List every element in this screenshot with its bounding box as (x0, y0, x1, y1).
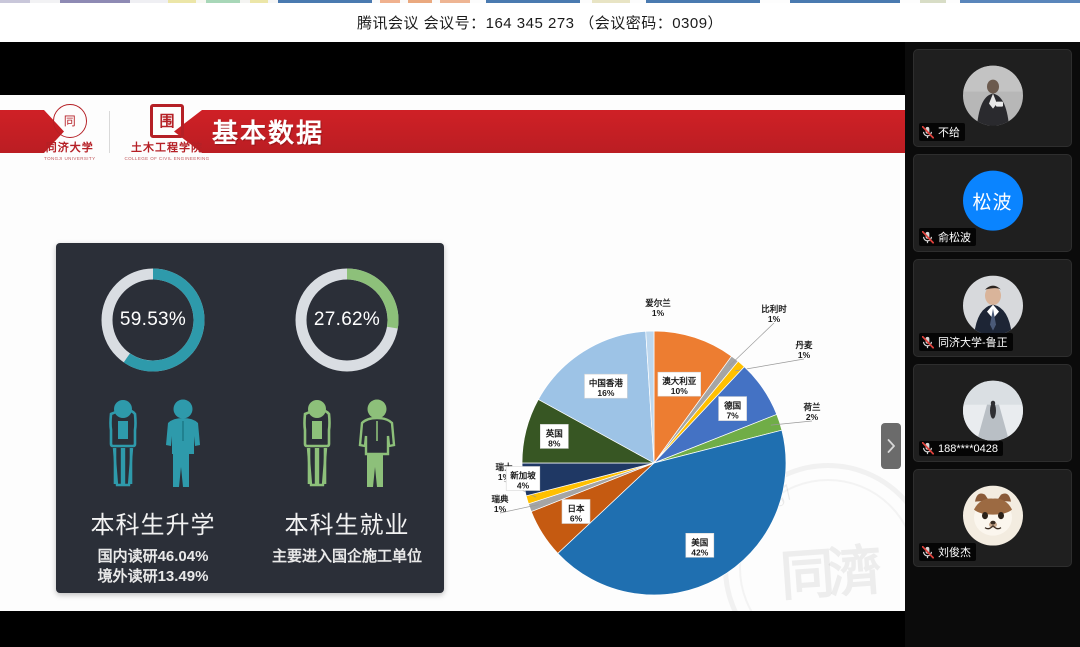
avatar-photo (963, 486, 1023, 546)
mic-muted-icon (922, 231, 934, 244)
pie-slice-label: 美国42% (686, 533, 714, 557)
pie-label-value: 1% (494, 504, 507, 514)
participants-panel[interactable]: 不给松波 俞松波 同济大学-鲁正 (905, 42, 1080, 647)
donut-chart-employment: 27.62% (288, 261, 406, 379)
pie-slice-label: 英国8% (540, 424, 568, 448)
logo-divider (109, 111, 110, 153)
participant-tile[interactable]: 松波 俞松波 (913, 154, 1072, 252)
destination-pie-chart: 澳大利亚10%比利时1%丹麦1%德国7%荷兰2%美国42%日本6%瑞典1%瑞士1… (482, 291, 832, 611)
female-figure-icon (294, 397, 340, 489)
meeting-window: 腾讯会议 会议号：164 345 273 （会议密码：0309） 1907 同濟… (0, 0, 1080, 647)
people-icons-employment (294, 393, 400, 489)
avatar (963, 381, 1023, 441)
pie-label-name: 中国香港 (589, 378, 624, 388)
pie-slice-label: 澳大利亚10% (658, 372, 701, 396)
pie-slice-label: 德国7% (719, 397, 747, 421)
college-logo-en: COLLEGE OF CIVIL ENGINEERING (124, 156, 209, 161)
pie-slice-label: 瑞典1% (491, 494, 509, 514)
participant-name-badge: 188****0428 (919, 441, 1003, 456)
avatar: 松波 (963, 171, 1023, 231)
avatar (963, 276, 1023, 336)
tongji-seal-icon: 同 (53, 104, 87, 138)
shared-screen-stage: 1907 同濟 TONGJI UNIVERSITY 同 同济大学 TONGJI … (0, 42, 905, 647)
college-emblem-icon: 围 (150, 104, 184, 138)
meeting-title-text: 腾讯会议 会议号：164 345 273 （会议密码：0309） (357, 12, 723, 33)
pie-label-value: 16% (597, 388, 614, 398)
participant-name-badge: 同济大学-鲁正 (919, 333, 1013, 351)
donut-chart-postgrad: 59.53% (94, 261, 212, 379)
pie-label-value: 10% (671, 386, 688, 396)
pie-label-name: 德国 (724, 401, 741, 411)
meeting-title-bar: 腾讯会议 会议号：164 345 273 （会议密码：0309） (0, 3, 1080, 42)
pie-label-name: 新加坡 (510, 471, 536, 481)
pie-label-value: 1% (652, 308, 665, 318)
participant-name: 同济大学-鲁正 (938, 334, 1008, 350)
civil-engineering-college-logo: 围 土木工程学院 COLLEGE OF CIVIL ENGINEERING (124, 104, 209, 161)
pie-label-name: 澳大利亚 (662, 376, 697, 386)
people-icons-postgrad (100, 393, 206, 489)
pie-slice-label: 爱尔兰1% (645, 298, 671, 318)
pie-label-name: 比利时 (761, 304, 787, 314)
avatar-photo (963, 66, 1023, 126)
pie-label-name: 美国 (691, 537, 708, 547)
male-figure-icon (160, 397, 206, 489)
pie-label-value: 6% (570, 514, 583, 524)
infographic-sub-line2: 境外读研13.49% (98, 567, 209, 587)
infographic-heading-employment: 本科生就业 (285, 505, 410, 540)
pie-label-value: 1% (798, 350, 811, 360)
pie-label-value: 2% (806, 412, 819, 422)
tongji-logo-cn: 同济大学 (46, 139, 94, 155)
participant-name: 188****0428 (938, 443, 998, 455)
pie-slice-label: 日本6% (562, 500, 590, 524)
tongji-logo-en: TONGJI UNIVERSITY (44, 156, 95, 161)
donut-label-postgrad: 59.53% (94, 261, 212, 379)
pie-label-name: 英国 (545, 428, 563, 438)
female-figure-icon (100, 397, 146, 489)
pie-label-name: 瑞典 (491, 494, 509, 504)
collapse-panel-button[interactable] (881, 423, 901, 469)
infographic-sub-line1: 主要进入国企施工单位 (272, 547, 422, 567)
avatar (963, 486, 1023, 546)
mic-muted-icon (922, 442, 934, 455)
pie-label-name: 荷兰 (802, 402, 821, 412)
infographic-heading-postgrad: 本科生升学 (91, 505, 216, 540)
institution-logos: 同 同济大学 TONGJI UNIVERSITY 围 土木工程学院 COLLEG… (44, 101, 210, 163)
pie-label-value: 4% (517, 481, 530, 491)
participant-name: 刘俊杰 (938, 544, 971, 560)
avatar-photo (963, 381, 1023, 441)
presentation-slide: 1907 同濟 TONGJI UNIVERSITY 同 同济大学 TONGJI … (0, 95, 905, 611)
pie-slice-label: 新加坡4% (506, 467, 540, 491)
pie-label-value: 7% (726, 411, 739, 421)
participant-tile[interactable]: 刘俊杰 (913, 469, 1072, 567)
slide-title: 基本数据 (212, 110, 324, 153)
pie-label-name: 日本 (567, 504, 585, 514)
avatar-photo (963, 276, 1023, 336)
participant-name: 不给 (938, 124, 960, 140)
participant-name-badge: 俞松波 (919, 228, 976, 246)
male-figure-icon (354, 397, 400, 489)
pie-label-name: 丹麦 (795, 340, 813, 350)
pie-label-value: 42% (691, 547, 708, 557)
participant-tile[interactable]: 同济大学-鲁正 (913, 259, 1072, 357)
mic-muted-icon (922, 546, 934, 559)
pie-leader-line (729, 323, 774, 366)
participant-name: 俞松波 (938, 229, 971, 245)
mic-muted-icon (922, 336, 934, 349)
participant-tile[interactable]: 188****0428 (913, 364, 1072, 462)
infographic-card: 59.53% (56, 243, 444, 593)
pie-label-name: 爱尔兰 (645, 298, 671, 308)
chevron-right-icon (887, 439, 896, 453)
pie-slice-label: 荷兰2% (802, 402, 821, 422)
pie-slice-label: 中国香港16% (585, 374, 628, 398)
pie-slice-label: 比利时1% (761, 304, 787, 324)
infographic-column-employment: 27.62% (259, 261, 435, 593)
avatar-initials: 松波 (963, 171, 1023, 231)
participant-name-badge: 刘俊杰 (919, 543, 976, 561)
avatar (963, 66, 1023, 126)
mic-muted-icon (922, 126, 934, 139)
infographic-sub-postgrad: 国内读研46.04% 境外读研13.49% (98, 547, 209, 587)
participant-tile[interactable]: 不给 (913, 49, 1072, 147)
college-logo-cn: 土木工程学院 (131, 139, 203, 155)
pie-slice-label: 丹麦1% (795, 340, 813, 360)
infographic-sub-employment: 主要进入国企施工单位 (272, 547, 422, 567)
participant-name-badge: 不给 (919, 123, 965, 141)
pie-label-value: 8% (548, 438, 561, 448)
pie-label-value: 1% (768, 314, 781, 324)
tongji-university-logo: 同 同济大学 TONGJI UNIVERSITY (44, 104, 95, 161)
slide-header-banner: 同 同济大学 TONGJI UNIVERSITY 围 土木工程学院 COLLEG… (0, 95, 905, 168)
infographic-sub-line1: 国内读研46.04% (98, 547, 209, 567)
infographic-column-postgrad: 59.53% (65, 261, 241, 593)
donut-label-employment: 27.62% (288, 261, 406, 379)
